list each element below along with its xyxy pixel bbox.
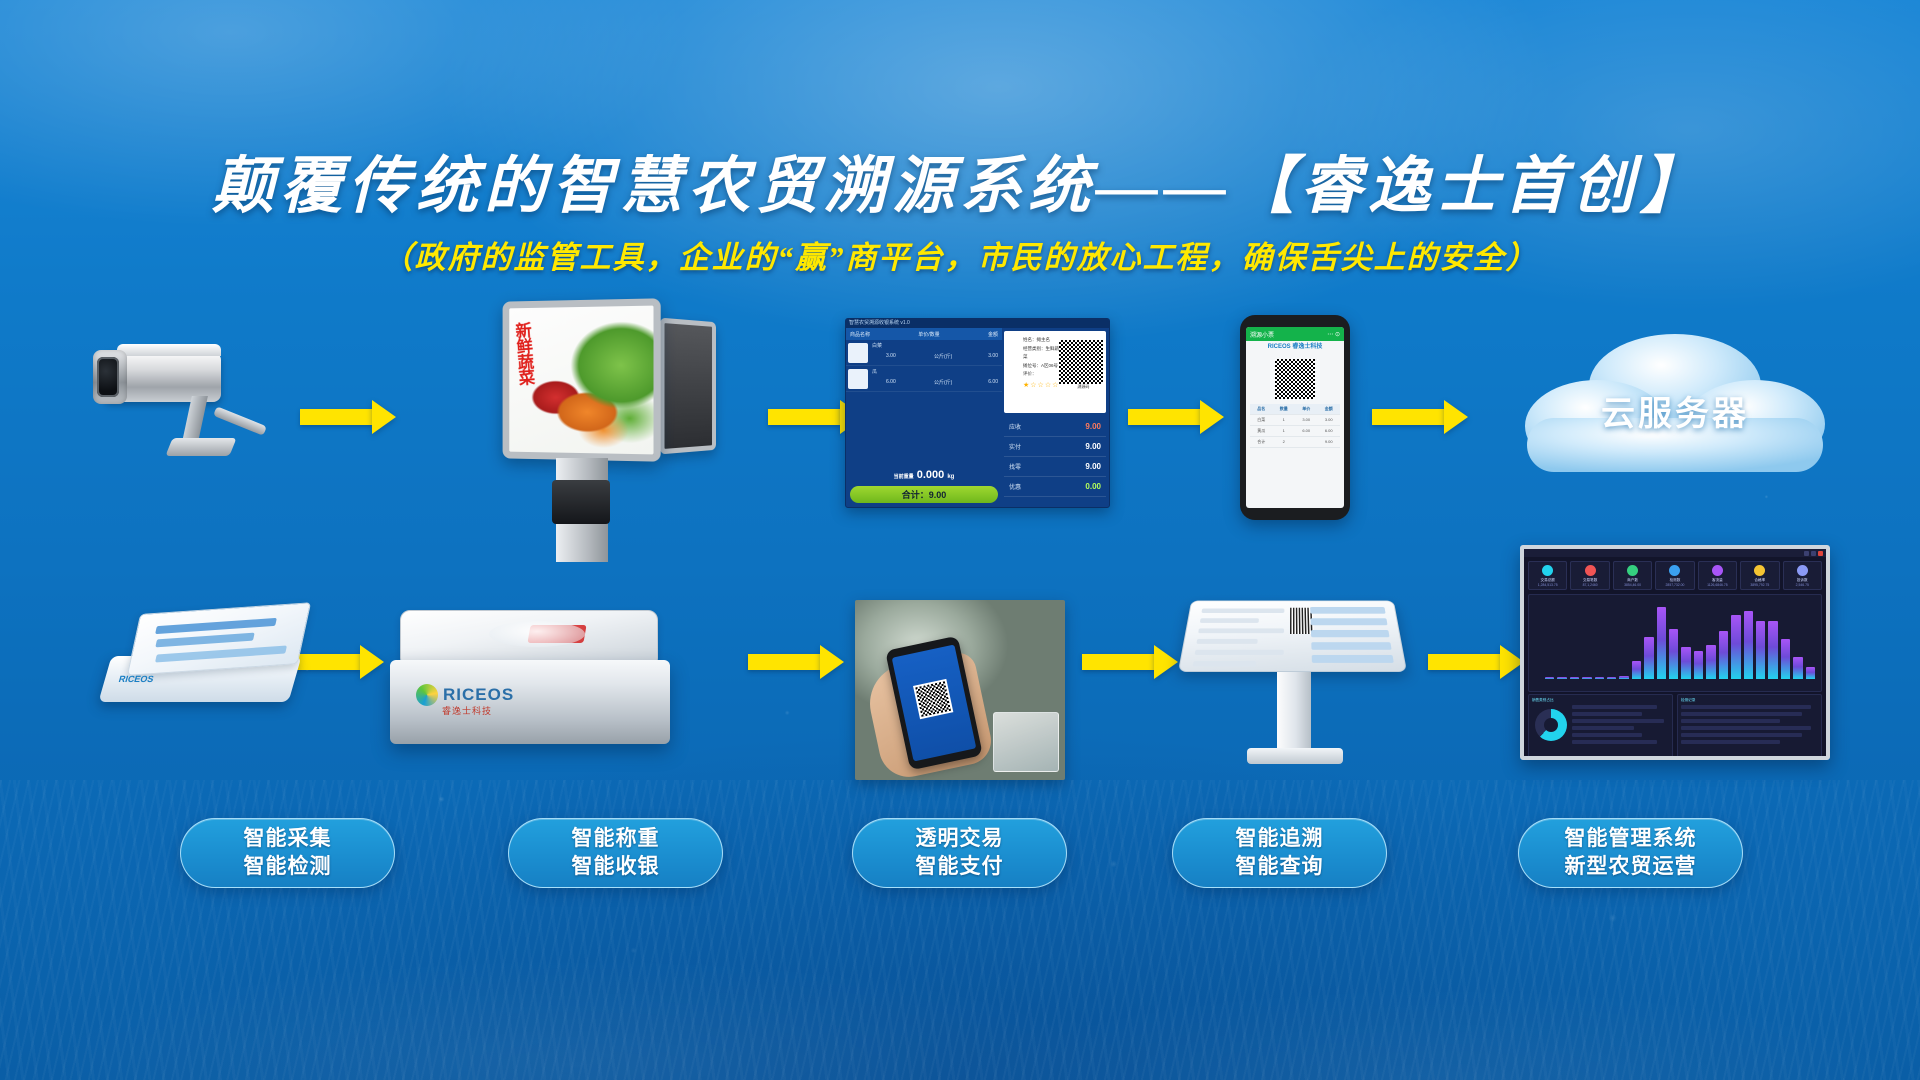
pill-line1: 智能追溯: [1236, 825, 1324, 853]
qr-code-icon: [1059, 340, 1103, 384]
arrow-trace-to-phone: [1128, 400, 1224, 434]
vendor-field: 姓名：摊主名: [1023, 336, 1059, 345]
qr-code-icon: [913, 679, 953, 719]
scale-brand: RICEOS: [416, 684, 514, 706]
kpi-card[interactable]: 合格率3895,792.75: [1740, 561, 1779, 590]
table-row: 合计 2 9.00: [1250, 437, 1340, 448]
camera-bracket-icon: [213, 406, 267, 436]
total-bar: 合计： 9.00: [850, 486, 998, 503]
chart-bar: [1644, 637, 1653, 679]
trace-cart-panel: 商品名称 单价/数量 金额 白菜 3.00 公斤(斤) 3.00 瓜 6.00 …: [846, 328, 1002, 507]
chart-bar: [1669, 629, 1678, 679]
vendor-rating: 评价：★☆☆☆☆: [1023, 370, 1059, 392]
chart-bar: [1706, 645, 1715, 679]
kiosk-base-icon: [1247, 748, 1343, 764]
weight-value: 0.000: [917, 469, 945, 481]
pill-smart-weighing[interactable]: 智能称重 智能收银: [508, 818, 723, 888]
pill-line2: 新型农贸运营: [1565, 853, 1697, 881]
phone-menu-icon[interactable]: ⋯ ⊙: [1327, 331, 1340, 338]
dashboard-screen: 交易总额1,284,513.75 交易笔数87,1,2460 商户数3854,4…: [1520, 545, 1830, 760]
scale-sub-logo-text: 睿逸士科技: [442, 704, 492, 717]
weight-display: 当前重量 0.000 kg: [850, 469, 998, 481]
pill-line2: 智能支付: [916, 853, 1004, 881]
chart-bar: [1731, 615, 1740, 679]
trace-software-screen: 智慧农贸溯源收银系统 v1.0 商品名称 单价/数量 金额 白菜 3.00 公斤…: [845, 318, 1110, 508]
total-label: 合计：: [902, 488, 929, 501]
phone-app-bar: 溯源小票 ⋯ ⊙: [1246, 327, 1344, 341]
counter-box-icon: [993, 712, 1059, 772]
collector-logo: RICEOS: [118, 674, 155, 684]
dashboard-monitor: 交易总额1,284,513.75 交易笔数87,1,2460 商户数3854,4…: [1520, 545, 1830, 760]
weight-unit: kg: [947, 474, 954, 480]
pill-management-system[interactable]: 智能管理系统 新型农贸运营: [1518, 818, 1743, 888]
trace-col-name: 商品名称: [846, 331, 874, 338]
row-unit: 公斤(斤): [934, 353, 952, 360]
scale-body-icon: RICEOS 睿逸士科技: [390, 660, 670, 744]
mobile-phone-device: 溯源小票 ⋯ ⊙ RICEOS 睿逸士科技 品名 数量 单价 金额 白菜 1 3…: [1240, 315, 1350, 520]
pos-terminal-device: 新鲜蔬菜: [480, 300, 770, 640]
dashboard-kpi-row: 交易总额1,284,513.75 交易笔数87,1,2460 商户数3854,4…: [1524, 557, 1826, 592]
pill-line2: 智能收银: [572, 853, 660, 881]
panel-inspection-table: 检测记录: [1677, 694, 1822, 760]
phone-screen: 溯源小票 ⋯ ⊙ RICEOS 睿逸士科技 品名 数量 单价 金额 白菜 1 3…: [1246, 327, 1344, 508]
pos-customer-display: [660, 318, 716, 455]
vendor-field: 摊位号：A区06号: [1023, 362, 1059, 371]
qr-caption: 溯源码: [1059, 384, 1107, 390]
table-row: 白菜 1 3.00 3.00: [1250, 415, 1340, 426]
pill-line2: 智能查询: [1236, 853, 1324, 881]
pos-ad-text: 新鲜蔬菜: [513, 321, 533, 385]
pos-printer-icon: [552, 480, 610, 524]
photo-frame: [855, 600, 1065, 780]
arrow-phone-to-cloud: [1372, 400, 1468, 434]
row-price: 3.00: [886, 353, 896, 359]
amount-panel: 应收9.00 实付9.00 找零9.00 优惠0.00: [1004, 417, 1106, 504]
item-thumb: [848, 369, 868, 389]
chart-bar: [1657, 607, 1666, 679]
kiosk-list: [1192, 608, 1285, 672]
amount-row: 优惠0.00: [1004, 477, 1106, 497]
chart-bar: [1545, 677, 1554, 679]
chart-bar: [1595, 677, 1604, 679]
pill-line2: 智能检测: [244, 853, 332, 881]
row-price: 6.00: [886, 379, 896, 385]
amount-row: 找零9.00: [1004, 457, 1106, 477]
collector-device: RICEOS: [105, 600, 315, 730]
camera-lens-icon: [93, 350, 127, 404]
kiosk-stand-icon: [1277, 672, 1311, 754]
scale-accent-icon: [527, 625, 586, 643]
arrow-pay-to-kiosk: [1082, 645, 1178, 679]
chart-bar: [1694, 651, 1703, 679]
kpi-card[interactable]: 投诉数2,546.75: [1783, 561, 1822, 590]
amount-row: 应收9.00: [1004, 417, 1106, 437]
panel-category-pie: 销售类别占比: [1528, 694, 1673, 760]
total-value: 9.00: [929, 490, 947, 500]
trace-col-amount: 金额: [984, 331, 1002, 338]
kpi-card[interactable]: 商户数3854,46.00: [1613, 561, 1652, 590]
dashboard-titlebar: [1524, 549, 1826, 557]
chart-bar: [1632, 661, 1641, 679]
row-unit: 公斤(斤): [934, 379, 952, 386]
pill-line1: 透明交易: [916, 825, 1004, 853]
phone-body: 溯源小票 ⋯ ⊙ RICEOS 睿逸士科技 品名 数量 单价 金额 白菜 1 3…: [1240, 315, 1350, 520]
chart-bar: [1570, 677, 1579, 679]
item-thumb: [848, 343, 868, 363]
scale-logo-text: RICEOS: [443, 685, 514, 705]
chart-bar: [1744, 611, 1753, 679]
table-row: 黄瓜 1 6.00 6.00: [1250, 426, 1340, 437]
chart-bar: [1768, 621, 1777, 679]
chart-bar: [1607, 677, 1616, 679]
kiosk-screen: [1178, 600, 1407, 671]
camera-device: [95, 330, 285, 490]
vendor-field: 经营类别：生鲜蔬菜: [1023, 345, 1059, 362]
chart-bar: [1719, 631, 1728, 679]
phone-receipt-table: 品名 数量 单价 金额 白菜 1 3.00 3.00 黄瓜 1 6.00 6.0…: [1250, 404, 1340, 448]
cloud-label: 云服务器: [1505, 386, 1845, 435]
pos-main-display: 新鲜蔬菜: [503, 298, 661, 461]
chart-bar: [1806, 667, 1815, 679]
pill-line1: 智能采集: [244, 825, 332, 853]
trace-window-title: 智慧农贸溯源收银系统 v1.0: [846, 319, 1109, 328]
chart-bar: [1557, 677, 1566, 679]
table-row[interactable]: 瓜 6.00 公斤(斤) 6.00: [846, 366, 1002, 392]
trace-col-price: 单价/数量: [874, 331, 984, 338]
brand-mark-icon: [416, 684, 438, 706]
dashboard-bar-chart: [1528, 594, 1822, 692]
camera-mount-icon: [182, 396, 208, 442]
dashboard-panels: 销售类别占比 检测记录: [1528, 694, 1822, 760]
row-name: 瓜: [872, 368, 877, 375]
smart-scale-device: RICEOS 睿逸士科技: [390, 610, 690, 760]
table-row[interactable]: 白菜 3.00 公斤(斤) 3.00: [846, 340, 1002, 366]
kpi-card[interactable]: 交易总额1,284,513.75: [1528, 561, 1567, 590]
arrow-kiosk-to-dashboard: [1428, 645, 1524, 679]
row-name: 白菜: [872, 342, 882, 349]
kpi-card[interactable]: 客流量1126,6846.75: [1698, 561, 1737, 590]
camera-base-icon: [165, 438, 236, 456]
amount-row: 实付9.00: [1004, 437, 1106, 457]
kpi-card[interactable]: 检测数2857,732.00: [1655, 561, 1694, 590]
chart-bars: [1545, 607, 1815, 679]
phone-brand: RICEOS 睿逸士科技: [1246, 341, 1344, 350]
pill-smart-traceability[interactable]: 智能追溯 智能查询: [1172, 818, 1387, 888]
pill-line1: 智能称重: [572, 825, 660, 853]
chart-bar: [1582, 677, 1591, 679]
vendor-card: 姓名：摊主名 经营类别：生鲜蔬菜 摊位号：A区06号 评价：★☆☆☆☆ 溯源码: [1004, 331, 1106, 413]
weight-label: 当前重量: [894, 474, 914, 480]
kpi-card[interactable]: 交易笔数87,1,2460: [1570, 561, 1609, 590]
qr-code-icon: [1275, 359, 1315, 399]
camera-hood-icon: [117, 344, 221, 356]
arrow-camera-to-pos: [300, 400, 396, 434]
cloud-server: 云服务器: [1505, 330, 1845, 495]
mobile-payment-photo: [855, 600, 1065, 780]
chart-bar: [1681, 647, 1690, 679]
page-subtitle: （政府的监管工具，企业的“赢”商平台，市民的放心工程，确保舌尖上的安全）: [0, 232, 1920, 277]
row-amount: 6.00: [988, 379, 998, 385]
trace-cart-header: 商品名称 单价/数量 金额: [846, 328, 1002, 340]
row-amount: 3.00: [988, 353, 998, 359]
pill-line1: 智能管理系统: [1565, 825, 1697, 853]
chart-bar: [1756, 621, 1765, 679]
pill-smart-collection[interactable]: 智能采集 智能检测: [180, 818, 395, 888]
query-kiosk-device: [1185, 590, 1415, 790]
page-title: 颠覆传统的智慧农贸溯源系统——【睿逸士首创】: [0, 135, 1920, 225]
trace-window: 智慧农贸溯源收银系统 v1.0 商品名称 单价/数量 金额 白菜 3.00 公斤…: [845, 318, 1110, 508]
pill-transparent-trade[interactable]: 透明交易 智能支付: [852, 818, 1067, 888]
donut-chart-icon: [1535, 709, 1567, 741]
vendor-info: 姓名：摊主名 经营类别：生鲜蔬菜 摊位号：A区06号 评价：★☆☆☆☆: [1023, 336, 1059, 408]
chart-bar: [1781, 639, 1790, 679]
chart-bar: [1619, 676, 1628, 679]
arrow-scale-to-pay: [748, 645, 844, 679]
chart-bar: [1793, 657, 1802, 679]
kiosk-buttons[interactable]: [1310, 607, 1395, 668]
phone-app-title: 溯源小票: [1250, 330, 1274, 339]
table-header-row: 品名 数量 单价 金额: [1250, 404, 1340, 415]
